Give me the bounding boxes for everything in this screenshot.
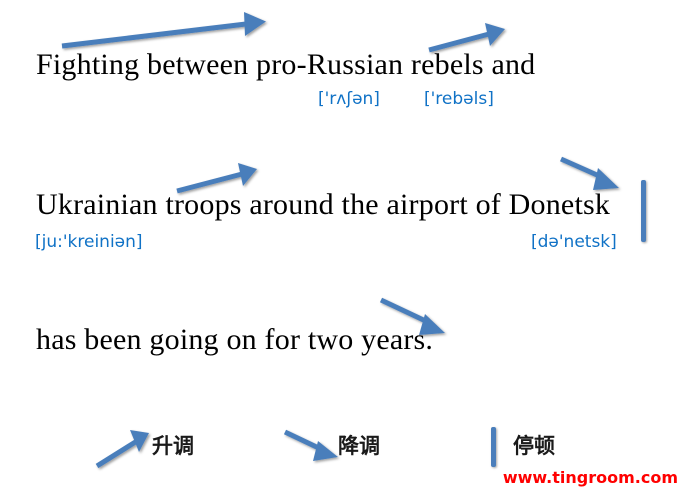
watermark: www.tingroom.com [503,468,678,487]
sentence-line-2: Ukrainian troops around the airport of D… [36,190,610,220]
rising-arrow-ukrainian [177,163,257,191]
ipa-russian: ['rʌʃən] [318,91,380,108]
sentence-line-1: Fighting between pro-Russian rebels and [36,50,535,80]
ipa-ukrainian: [ju:'kreiniən] [35,234,143,251]
ipa-donetsk: [də'netsk] [531,234,617,251]
lesson-slide: Fighting between pro-Russian rebels and … [0,0,690,497]
sentence-line-3: has been going on for two years. [36,325,433,355]
pause-bar-after-donetsk [641,180,646,242]
falling-arrow-donetsk [561,159,619,190]
ipa-rebels: ['rebəls] [424,91,494,108]
rising-arrow-fighting [62,12,266,46]
legend-falling-tone-label: 降调 [338,436,380,457]
legend-rising-tone-label: 升调 [152,436,194,457]
legend-falling-arrow [285,432,338,461]
rising-arrow-rebels [429,23,505,50]
legend-rising-arrow [97,430,149,466]
legend-pause-bar [491,427,496,467]
legend-pause-label: 停顿 [513,436,555,457]
